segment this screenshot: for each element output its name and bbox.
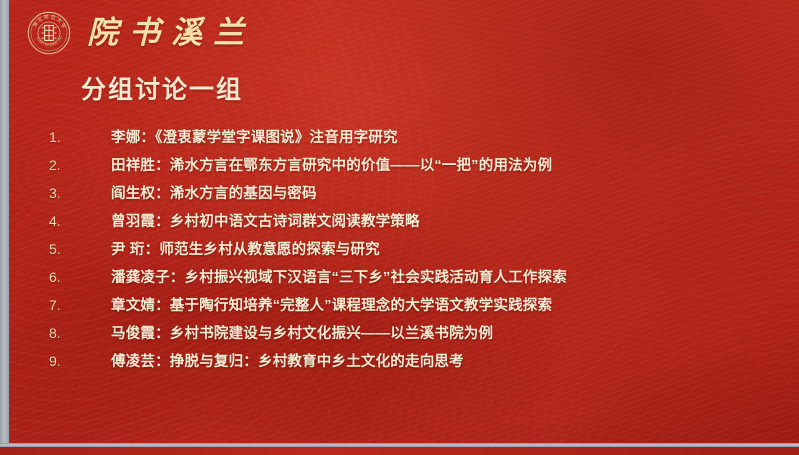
brand-calligraphy-title: 院书溪兰 <box>87 18 255 49</box>
list-item[interactable]: 7. 章文婧：基于陶行知培养“完整人”课程理念的大学语文教学实践探索 <box>49 294 789 322</box>
list-item[interactable]: 3. 阎生权：浠水方言的基因与密码 <box>49 182 789 210</box>
list-item-number: 9. <box>49 353 111 369</box>
list-item-number: 6. <box>49 269 111 285</box>
list-item[interactable]: 8. 马俊霞：乡村书院建设与乡村文化振兴——以兰溪书院为例 <box>49 322 789 350</box>
list-item-label: 傅凌芸：挣脱与复归：乡村教育中乡土文化的走向思考 <box>111 350 464 371</box>
list-item-label: 田祥胜：浠水方言在鄂东方言研究中的价值——以“一把”的用法为例 <box>111 154 552 175</box>
list-item-number: 5. <box>49 241 111 257</box>
viewer-bottom-divider <box>0 443 799 447</box>
background-wave-shape <box>259 380 799 443</box>
list-item-number: 2. <box>49 157 111 173</box>
list-item-number: 3. <box>49 185 111 201</box>
slide-header: 湖北师范大学 HUBEI NORMAL UNIVERSITY 院书溪兰 <box>9 0 799 66</box>
list-item-label: 潘龚凌子：乡村振兴视域下汉语言“三下乡”社会实践活动育人工作探索 <box>111 266 567 287</box>
list-item-label: 马俊霞：乡村书院建设与乡村文化振兴——以兰溪书院为例 <box>111 322 493 343</box>
list-item-number: 8. <box>49 325 111 341</box>
viewer-left-edge <box>0 0 9 443</box>
list-item[interactable]: 6. 潘龚凌子：乡村振兴视域下汉语言“三下乡”社会实践活动育人工作探索 <box>49 266 789 294</box>
list-item-number: 7. <box>49 297 111 313</box>
page-title: 分组讨论一组 <box>81 70 243 106</box>
list-item-label: 曾羽霞：乡村初中语文古诗词群文阅读教学策略 <box>111 210 420 231</box>
list-item-label: 尹 珩：师范生乡村从教意愿的探索与研究 <box>111 238 380 259</box>
list-item-label: 章文婧：基于陶行知培养“完整人”课程理念的大学语文教学实践探索 <box>111 294 552 315</box>
list-item-number: 4. <box>49 213 111 229</box>
list-item-label: 李娜：《澄衷蒙学堂字课图说》注音用字研究 <box>111 126 398 147</box>
list-item[interactable]: 5. 尹 珩：师范生乡村从教意愿的探索与研究 <box>49 238 789 266</box>
list-item[interactable]: 2. 田祥胜：浠水方言在鄂东方言研究中的价值——以“一把”的用法为例 <box>49 154 789 182</box>
list-item-number: 1. <box>49 129 111 145</box>
presentation-slide: 湖北师范大学 HUBEI NORMAL UNIVERSITY 院书溪兰 分组讨论… <box>9 0 799 443</box>
slide-viewer: 湖北师范大学 HUBEI NORMAL UNIVERSITY 院书溪兰 分组讨论… <box>0 0 799 455</box>
agenda-list: 1. 李娜：《澄衷蒙学堂字课图说》注音用字研究 2. 田祥胜：浠水方言在鄂东方言… <box>49 126 789 378</box>
viewer-bottom-strip <box>0 447 799 455</box>
university-seal-logo-icon: 湖北师范大学 HUBEI NORMAL UNIVERSITY <box>27 11 71 55</box>
list-item[interactable]: 1. 李娜：《澄衷蒙学堂字课图说》注音用字研究 <box>49 126 789 154</box>
list-item[interactable]: 4. 曾羽霞：乡村初中语文古诗词群文阅读教学策略 <box>49 210 789 238</box>
list-item-label: 阎生权：浠水方言的基因与密码 <box>111 182 317 203</box>
list-item[interactable]: 9. 傅凌芸：挣脱与复归：乡村教育中乡土文化的走向思考 <box>49 350 789 378</box>
